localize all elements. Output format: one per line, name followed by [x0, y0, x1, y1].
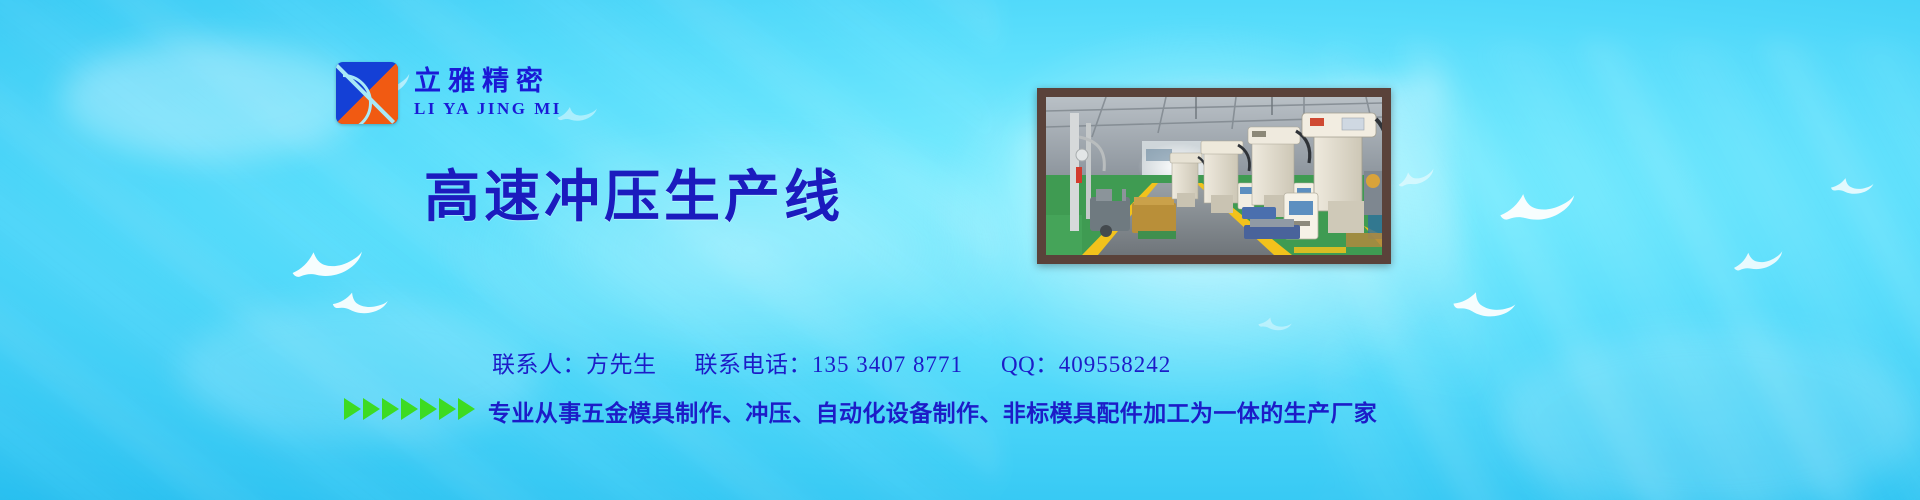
arrow-chevron-icon: [363, 398, 380, 420]
factory-stamping-line-photo: [1046, 97, 1382, 255]
tagline-text: 专业从事五金模具制作、冲压、自动化设备制作、非标模具配件加工为一体的生产厂家: [488, 394, 1377, 428]
contact-qq-value[interactable]: 409558242: [1059, 352, 1172, 377]
headline-title: 高速冲压生产线: [424, 152, 844, 233]
arrow-chevron-icon: [382, 398, 399, 420]
arrow-chevron-icon: [344, 398, 361, 420]
brand-text: 立雅精密 LI YA JING MI: [414, 67, 562, 120]
factory-photo-frame[interactable]: [1037, 88, 1391, 264]
cloud-blob-1: [60, 40, 360, 160]
bird-left-2-icon: [331, 287, 389, 318]
arrow-chevron-icon: [458, 398, 475, 420]
contact-phone-value[interactable]: 135 3407 8771: [812, 352, 963, 377]
arrow-chevron-icon: [439, 398, 456, 420]
brand-logo[interactable]: 立雅精密 LI YA JING MI: [336, 62, 562, 124]
brand-name-en: LI YA JING MI: [414, 99, 562, 119]
contact-person-label: 联系人：: [492, 352, 586, 377]
contact-qq-label: QQ：: [1001, 352, 1059, 377]
arrow-chevrons: [344, 398, 475, 420]
contact-line: 联系人：方先生联系电话：135 3407 8771QQ：409558242: [492, 345, 1171, 379]
contact-person-value: 方先生: [586, 352, 657, 377]
arrow-chevron-icon: [420, 398, 437, 420]
bird-right-4-icon: [1829, 174, 1874, 197]
liya-jingmi-logo-icon: [336, 62, 398, 124]
cloud-blob-3: [1500, 330, 1920, 500]
arrow-chevron-icon: [401, 398, 418, 420]
contact-phone-label: 联系电话：: [695, 352, 813, 377]
promo-banner: 立雅精密 LI YA JING MI 高速冲压生产线: [0, 0, 1920, 500]
brand-name-cn: 立雅精密: [414, 67, 562, 96]
